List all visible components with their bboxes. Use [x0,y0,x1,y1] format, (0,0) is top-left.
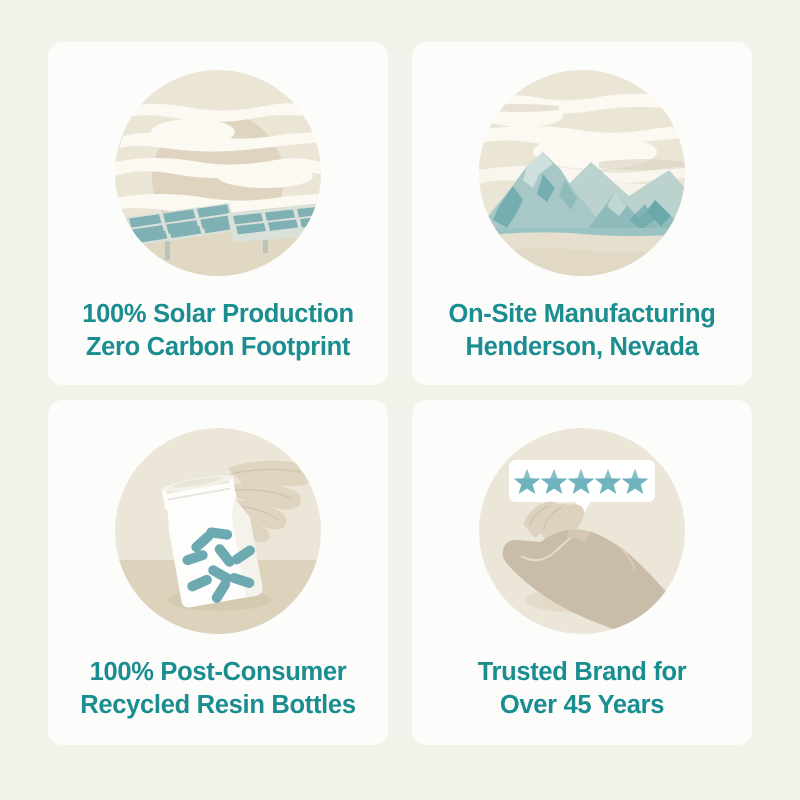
feature-card-trusted-brand[interactable]: Trusted Brand for Over 45 Years [412,400,752,745]
feature-card-grid: 100% Solar Production Zero Carbon Footpr… [48,42,752,745]
caption-line-2: Zero Carbon Footprint [82,331,353,364]
hand-five-stars-icon [479,428,685,634]
card-caption: 100% Solar Production Zero Carbon Footpr… [74,298,361,364]
feature-card-recycled-resin[interactable]: 100% Post-Consumer Recycled Resin Bottle… [48,400,388,745]
feature-card-on-site-manufacturing[interactable]: On-Site Manufacturing Henderson, Nevada [412,42,752,385]
caption-line-1: Trusted Brand for [478,656,687,689]
caption-line-1: 100% Post-Consumer [80,656,355,689]
caption-line-2: Over 45 Years [478,689,687,722]
card-caption: 100% Post-Consumer Recycled Resin Bottle… [72,656,363,722]
caption-line-1: 100% Solar Production [82,298,353,331]
caption-line-1: On-Site Manufacturing [448,298,715,331]
feature-card-solar-production[interactable]: 100% Solar Production Zero Carbon Footpr… [48,42,388,385]
caption-line-2: Recycled Resin Bottles [80,689,355,722]
card-caption: Trusted Brand for Over 45 Years [470,656,695,722]
mountain-landscape-icon [479,70,685,276]
pill-bottle-icon [115,428,321,634]
caption-line-2: Henderson, Nevada [448,331,715,364]
card-caption: On-Site Manufacturing Henderson, Nevada [440,298,723,364]
solar-panels-icon [115,70,321,276]
